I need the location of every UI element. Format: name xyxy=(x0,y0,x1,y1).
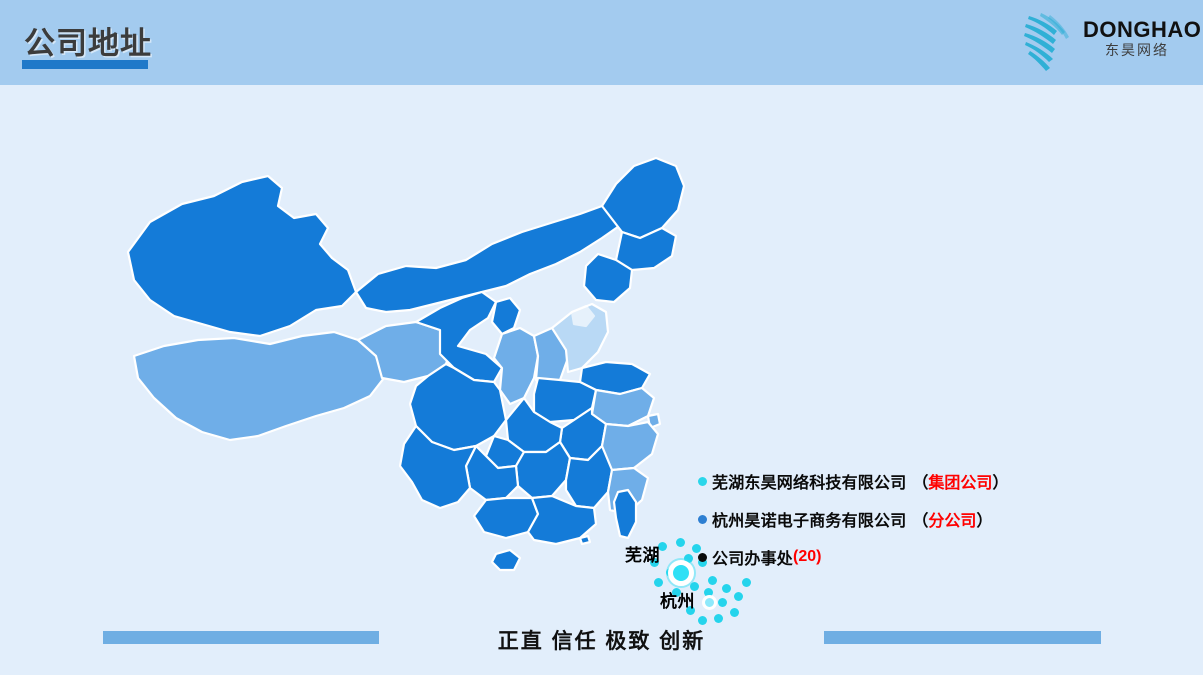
legend-item-group-company[interactable]: 芜湖东昊网络科技有限公司 （集团公司） xyxy=(698,462,1118,500)
legend-note-close: ） xyxy=(992,475,1008,492)
office-dot xyxy=(676,538,685,547)
legend-bullet-icon xyxy=(698,553,707,562)
map-label-wuhu: 芜湖 xyxy=(625,541,660,566)
legend-item-offices[interactable]: 公司办事处(20) xyxy=(698,538,1118,576)
office-dot xyxy=(698,616,707,625)
legend-label: 芜湖东昊网络科技有限公司 xyxy=(712,469,906,493)
marker-headquarters-wuhu[interactable] xyxy=(668,560,694,586)
legend-note-open: （ xyxy=(912,513,928,530)
legend-note-highlight: (20) xyxy=(793,548,821,566)
legend-note-highlight: 分公司 xyxy=(928,513,976,530)
slide: 公司地址 DONGHAO 东昊网络 xyxy=(0,0,1203,675)
logo-chinese: 东昊网络 xyxy=(1083,41,1191,61)
china-map[interactable]: 芜湖 杭州 xyxy=(110,140,710,610)
legend-label: 公司办事处 xyxy=(712,545,793,569)
legend-note-close: ） xyxy=(976,513,992,530)
legend-note-highlight: 集团公司 xyxy=(928,475,992,492)
office-dot xyxy=(730,608,739,617)
office-dot xyxy=(708,576,717,585)
office-dot xyxy=(722,584,731,593)
company-slogan: 正直 信任 极致 创新 xyxy=(0,625,1203,655)
map-label-hangzhou: 杭州 xyxy=(660,587,695,612)
legend-item-branch-company[interactable]: 杭州昊诺电子商务有限公司 （分公司） xyxy=(698,500,1118,538)
page-title: 公司地址 xyxy=(24,18,152,63)
office-dot xyxy=(742,578,751,587)
legend-label: 杭州昊诺电子商务有限公司 xyxy=(712,507,906,531)
office-dot xyxy=(718,598,727,607)
marker-branch-hangzhou[interactable] xyxy=(702,595,717,610)
office-dot xyxy=(654,578,663,587)
office-dot xyxy=(714,614,723,623)
legend-note: （集团公司） xyxy=(912,469,1008,493)
donghao-fan-logo-icon xyxy=(1019,10,1081,74)
legend-note: （分公司） xyxy=(912,507,992,531)
legend-bullet-icon xyxy=(698,515,707,524)
map-legend: 芜湖东昊网络科技有限公司 （集团公司） 杭州昊诺电子商务有限公司 （分公司） 公… xyxy=(698,462,1118,576)
legend-bullet-icon xyxy=(698,477,707,486)
title-underline xyxy=(22,60,148,69)
legend-note-open: （ xyxy=(912,475,928,492)
logo-text: DONGHAO 东昊网络 xyxy=(1083,18,1191,61)
office-dot xyxy=(734,592,743,601)
slide-header: 公司地址 DONGHAO 东昊网络 xyxy=(0,0,1203,85)
logo-english: DONGHAO xyxy=(1083,18,1191,41)
company-logo: DONGHAO 东昊网络 xyxy=(1019,8,1191,76)
